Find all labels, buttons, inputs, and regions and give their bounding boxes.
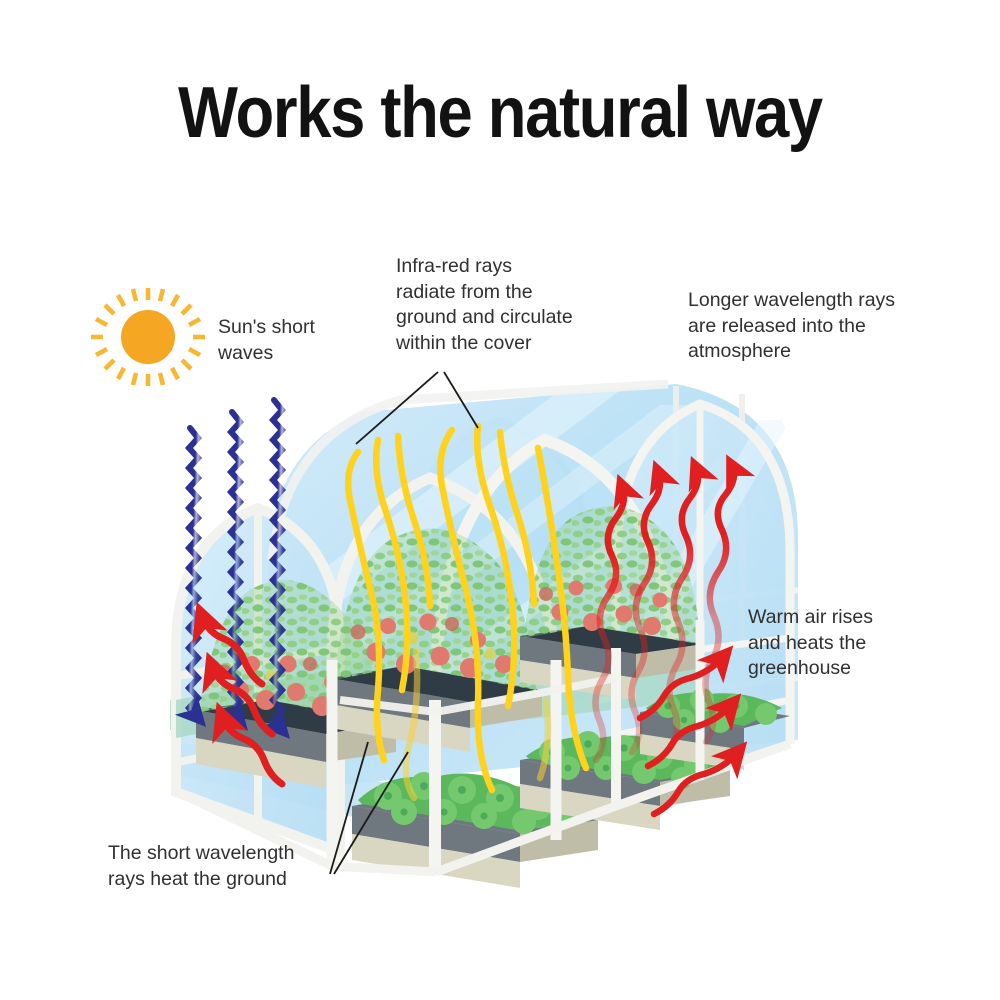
callout-sun-short-waves: Sun's short waves: [218, 315, 368, 366]
callout-infrared-rays: Infra-red rays radiate from the ground a…: [396, 254, 611, 356]
greenhouse-structure: [150, 330, 798, 888]
callout-longer-wavelength: Longer wavelength rays are released into…: [688, 288, 928, 365]
callout-warm-air-rises: Warm air rises and heats the greenhouse: [748, 605, 928, 682]
infographic-canvas: Works the natural way: [0, 0, 1000, 1000]
callout-short-wavelength-ground: The short wavelength rays heat the groun…: [108, 841, 338, 892]
sun-icon: [91, 288, 205, 386]
